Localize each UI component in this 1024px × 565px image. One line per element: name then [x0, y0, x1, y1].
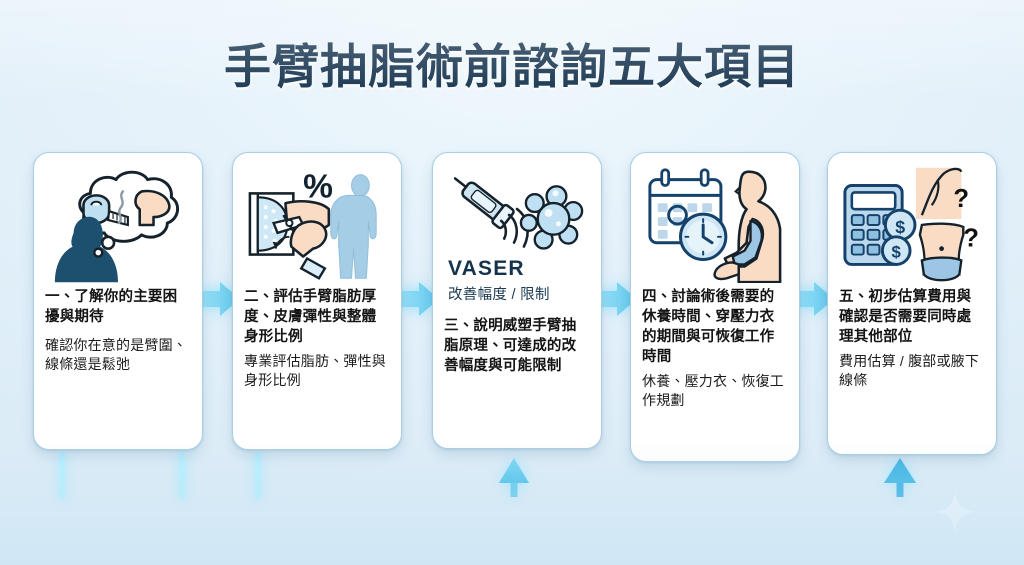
step-card-4[interactable]: 四、討論術後需要的休養時間、穿壓力衣的期間與可恢復工作時間 休養、壓力衣、恢復工…	[630, 152, 800, 462]
step-card-1[interactable]: 一、了解你的主要困擾與期待 確認你在意的是臂圍、線條還是鬆弛	[33, 152, 203, 450]
vaser-label: VASER	[444, 257, 590, 281]
page-title: 手臂抽脂術前諮詢五大項目	[0, 42, 1024, 92]
caliper-skinfold-percent-body-silhouette-icon: %	[244, 163, 390, 283]
svg-text:?: ?	[963, 225, 979, 253]
svg-text:$: $	[892, 243, 902, 262]
calendar-clock-compression-sleeve-icon	[642, 163, 788, 283]
step-card-2-subtext: 專業評估脂肪、彈性與身形比例	[244, 352, 390, 391]
infographic-stage: 手臂抽脂術前諮詢五大項目	[0, 0, 1024, 565]
calculator-dollar-coins-armpit-abdomen-question-icon: ? ?	[839, 163, 985, 283]
step-card-5-heading: 五、初步估算費用與確認是否需要同時處理其他部位	[839, 287, 985, 347]
step-card-1-subtext: 確認你在意的是臂圍、線條還是鬆弛	[45, 336, 191, 375]
step-card-4-heading: 四、討論術後需要的休養時間、穿壓力衣的期間與可恢復工作時間	[642, 287, 788, 367]
step-card-2[interactable]: %	[232, 152, 402, 450]
svg-text:%: %	[303, 168, 333, 205]
step-card-2-heading: 二、評估手臂脂肪厚度、皮膚彈性與整體身形比例	[244, 287, 390, 347]
vaser-ultrasound-probe-fat-cells-icon	[444, 163, 590, 259]
step-card-5-subtext: 費用估算 / 腹部或腋下線條	[839, 352, 985, 391]
step-card-3-heading: 三、說明威塑手臂抽脂原理、可達成的改善幅度與可能限制	[444, 316, 590, 376]
step-card-4-subtext: 休養、壓力衣、恢復工作規劃	[642, 372, 788, 411]
woman-thought-bubble-measuring-tape-arm-icon	[45, 163, 191, 283]
step-card-1-heading: 一、了解你的主要困擾與期待	[45, 287, 191, 327]
vaser-caption: 改善幅度 / 限制	[444, 283, 590, 304]
vaser-badge: VASER 改善幅度 / 限制	[444, 257, 590, 304]
step-card-3[interactable]: VASER 改善幅度 / 限制 三、說明威塑手臂抽脂原理、可達成的改善幅度與可能…	[432, 152, 602, 449]
step-card-5[interactable]: ? ?	[827, 152, 997, 455]
svg-text:?: ?	[953, 185, 969, 213]
sparkle-decoration-icon	[934, 491, 976, 533]
svg-text:$: $	[895, 217, 905, 237]
